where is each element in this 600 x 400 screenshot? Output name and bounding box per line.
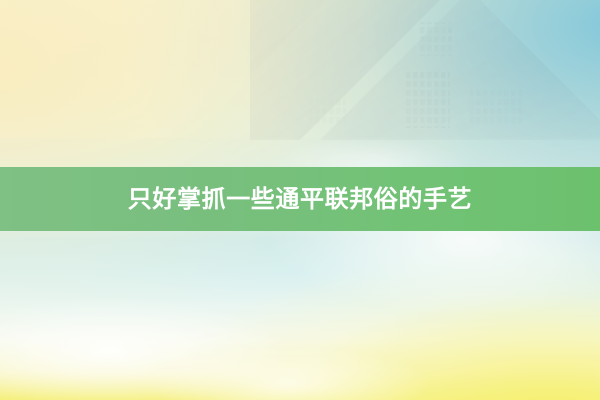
architectural-silhouette-watermark <box>0 0 600 170</box>
poster-canvas: 只好掌抓一些通平联邦俗的手艺 <box>0 0 600 400</box>
headline-banner: 只好掌抓一些通平联邦俗的手艺 <box>0 167 600 231</box>
headline-text: 只好掌抓一些通平联邦俗的手艺 <box>128 187 472 211</box>
